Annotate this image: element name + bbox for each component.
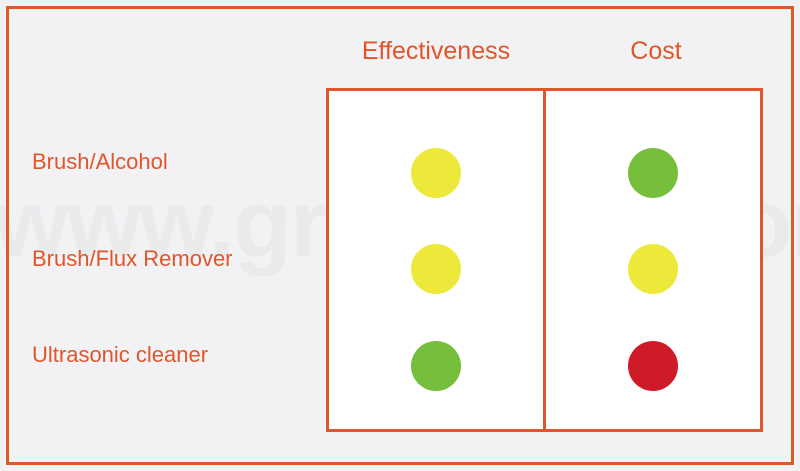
- row-label-brush-alcohol: Brush/Alcohol: [32, 150, 322, 174]
- matrix-column-cost: [546, 91, 760, 429]
- row-label-brush-flux-remover: Brush/Flux Remover: [32, 247, 322, 271]
- rating-dot-effectiveness-brush-flux-remover: [411, 244, 461, 294]
- column-header-effectiveness: Effectiveness: [326, 38, 546, 66]
- column-header-cost: Cost: [546, 38, 766, 66]
- rating-dot-effectiveness-ultrasonic-cleaner: [411, 341, 461, 391]
- row-label-ultrasonic-cleaner: Ultrasonic cleaner: [32, 343, 322, 367]
- rating-dot-cost-ultrasonic-cleaner: [628, 341, 678, 391]
- comparison-chart-page: www.greattong.com Effectiveness Cost Bru…: [0, 0, 800, 471]
- rating-dot-cost-brush-alcohol: [628, 148, 678, 198]
- matrix-column-effectiveness: [329, 91, 546, 429]
- rating-dot-effectiveness-brush-alcohol: [411, 148, 461, 198]
- rating-dot-cost-brush-flux-remover: [628, 244, 678, 294]
- comparison-matrix: [326, 88, 763, 432]
